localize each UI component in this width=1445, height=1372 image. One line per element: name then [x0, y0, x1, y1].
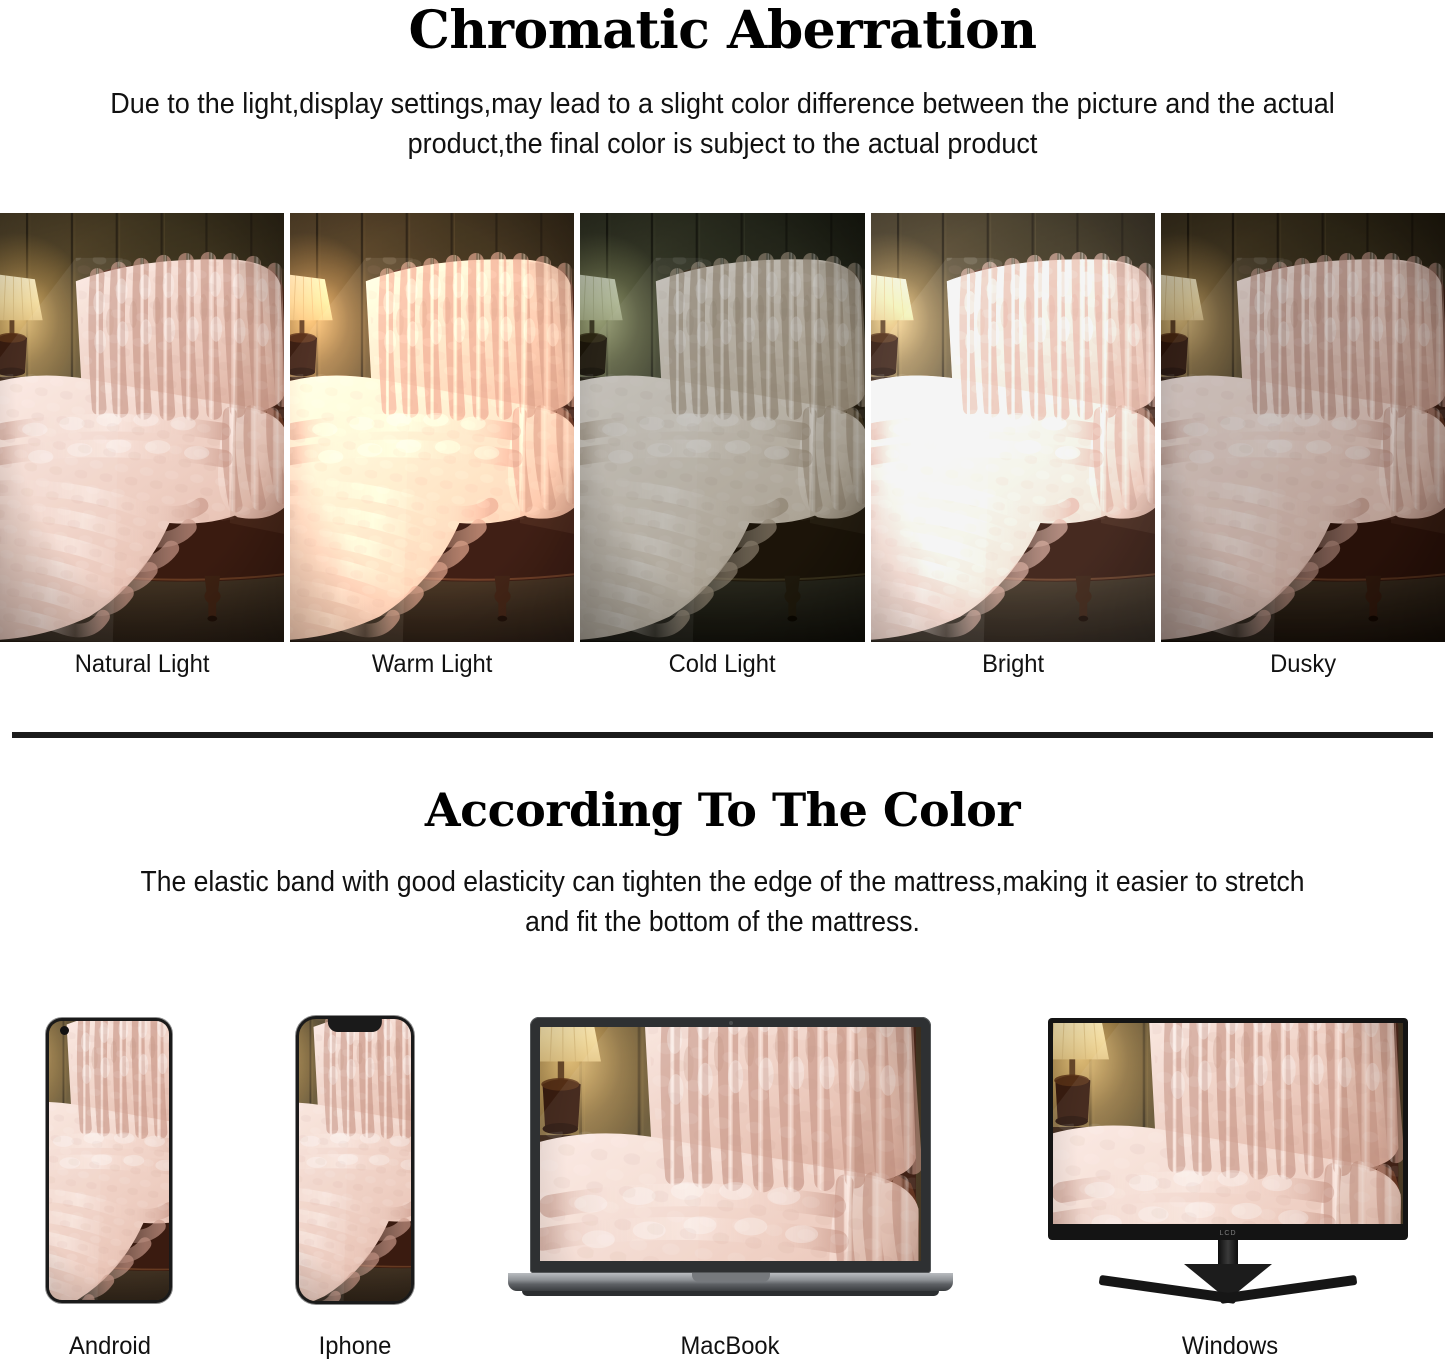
product-photo-cold-light	[580, 213, 864, 642]
lighting-panel-warm-light	[290, 213, 574, 642]
macbook-lid	[530, 1017, 931, 1273]
monitor-bezel: LCD	[1048, 1018, 1408, 1240]
section-one-title: Chromatic Aberration	[0, 0, 1445, 60]
device-macbook-laptop	[508, 1017, 953, 1305]
device-label-row: Android Iphone MacBook Windows	[0, 1332, 1445, 1372]
section-two-title: According To The Color	[0, 784, 1445, 836]
product-photo-bright	[871, 213, 1155, 642]
device-label-android: Android	[25, 1332, 196, 1361]
monitor-brand-logo: LCD	[1219, 1230, 1236, 1237]
product-photo-dusky	[1161, 213, 1445, 642]
device-android-phone	[46, 1018, 172, 1303]
lighting-panel-cold-light	[580, 213, 864, 642]
product-photo-warm-light	[290, 213, 574, 642]
android-screen	[49, 1021, 169, 1300]
lighting-label-dusky: Dusky	[1168, 650, 1438, 679]
android-phone-body	[46, 1018, 172, 1303]
product-infographic: Chromatic Aberration Due to the light,di…	[0, 0, 1445, 1372]
section-divider	[12, 732, 1433, 738]
lighting-label-bright: Bright	[878, 650, 1148, 679]
macbook-lid-notch	[692, 1273, 770, 1282]
lighting-panel-dusky	[1161, 213, 1445, 642]
macbook-webcam-icon	[729, 1021, 733, 1025]
iphone-notch-icon	[328, 1016, 382, 1032]
monitor-screen	[1053, 1023, 1403, 1224]
device-label-macbook: MacBook	[645, 1332, 816, 1361]
device-windows-monitor: LCD	[1048, 1018, 1408, 1306]
device-comparison-row: LCD	[0, 1000, 1445, 1310]
lighting-label-warm-light: Warm Light	[297, 650, 567, 679]
iphone-body	[296, 1016, 414, 1304]
device-iphone	[296, 1016, 414, 1304]
device-label-iphone: Iphone	[270, 1332, 441, 1361]
lighting-label-cold-light: Cold Light	[588, 650, 858, 679]
lighting-label-row: Natural Light Warm Light Cold Light Brig…	[0, 650, 1445, 679]
lighting-panel-bright	[871, 213, 1155, 642]
lighting-label-natural-light: Natural Light	[7, 650, 277, 679]
android-camera-punchhole-icon	[60, 1026, 69, 1035]
section-two-description: The elastic band with good elasticity ca…	[51, 862, 1395, 942]
iphone-screen	[299, 1019, 411, 1301]
macbook-foot	[522, 1291, 939, 1296]
macbook-screen	[540, 1027, 921, 1261]
lighting-comparison-strip	[0, 213, 1445, 642]
section-one-description: Due to the light,display settings,may le…	[51, 84, 1395, 164]
device-label-windows: Windows	[1145, 1332, 1316, 1361]
product-photo-natural-light	[0, 213, 284, 642]
lighting-panel-natural-light	[0, 213, 284, 642]
